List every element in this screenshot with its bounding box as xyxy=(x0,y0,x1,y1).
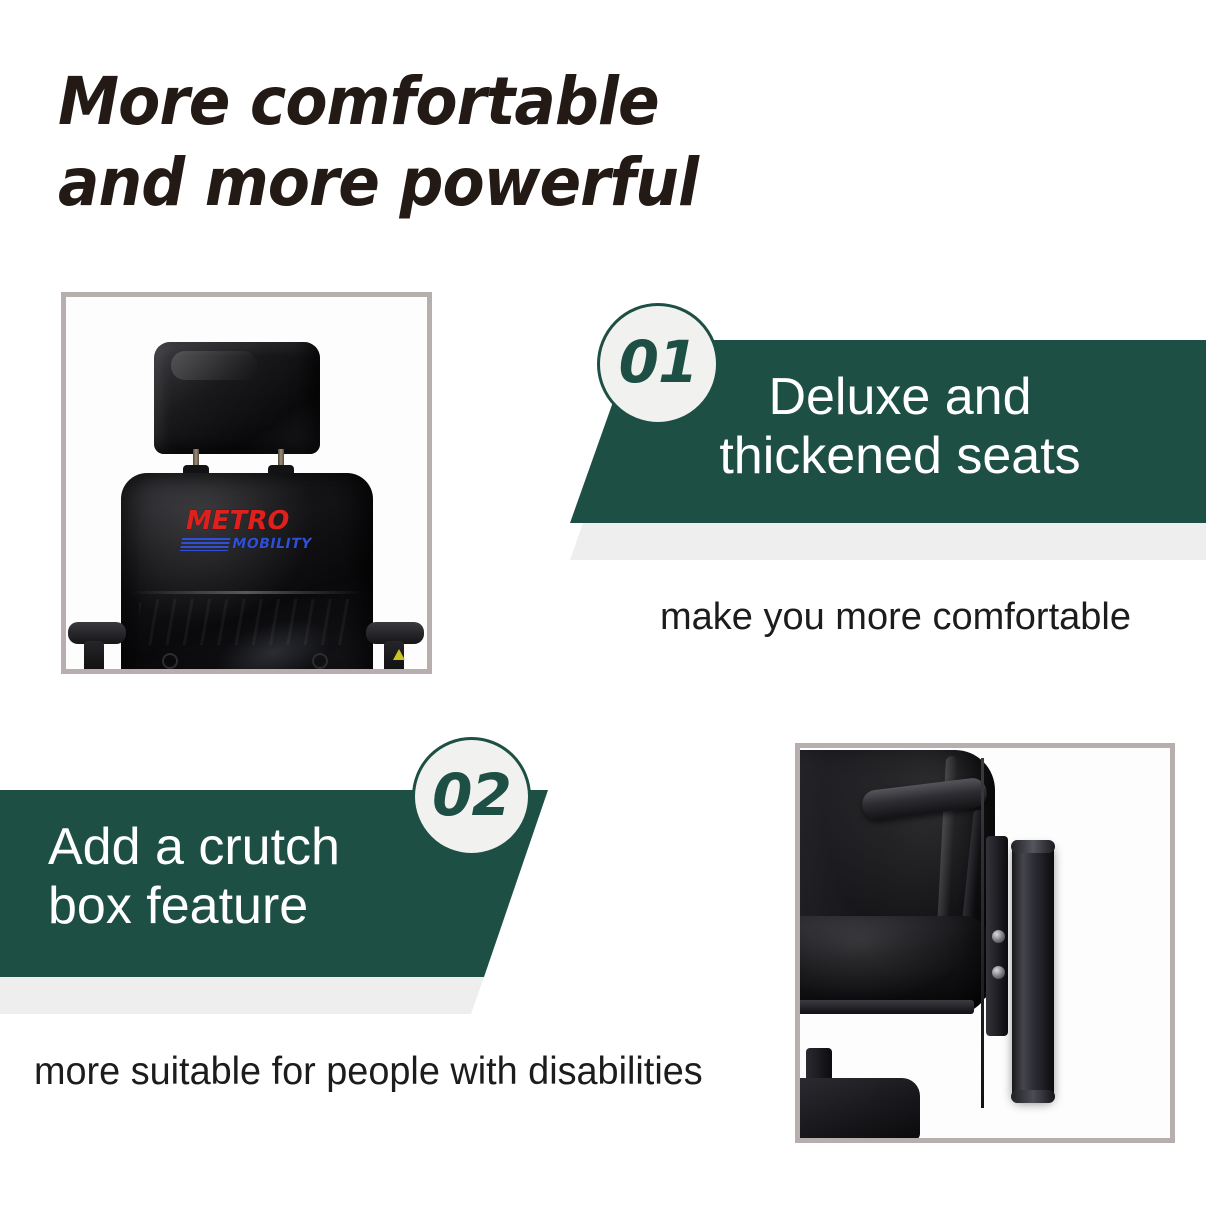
crutch-holder-tube xyxy=(1012,843,1054,1101)
page-headline: More comfortable and more powerful xyxy=(58,62,895,223)
armrest-mount-left xyxy=(84,641,104,674)
backrest-seam xyxy=(131,591,363,594)
feature-banner-shadow-02 xyxy=(0,977,548,1014)
headrest-cushion xyxy=(154,342,320,454)
bracket-bolt-upper xyxy=(992,930,1005,943)
logo-text-mobility: MOBILITY xyxy=(231,537,313,551)
photo-crutch-box-scene xyxy=(800,748,1170,1138)
logo-second-row: MOBILITY xyxy=(180,537,315,551)
feature-number-label-02: 02 xyxy=(432,766,511,824)
logo-speed-stripes-icon xyxy=(180,538,231,551)
backrest-knob-right xyxy=(312,653,328,669)
backrest-knob-left xyxy=(162,653,178,669)
crutch-tube-cap-bottom xyxy=(1011,1090,1055,1103)
feature-banner-shadow-01 xyxy=(570,523,1206,560)
feature-number-label-01: 01 xyxy=(619,333,698,391)
feature-caption-02: more suitable for people with disabiliti… xyxy=(34,1050,703,1094)
metro-mobility-logo: METRO MOBILITY xyxy=(180,508,320,551)
bracket-bolt-lower xyxy=(992,966,1005,979)
feature-photo-seat-back: METRO MOBILITY xyxy=(61,292,432,674)
logo-text-metro: METRO xyxy=(183,508,320,534)
feature-caption-01: make you more comfortable xyxy=(660,596,1131,639)
crutch-tube-cap-top xyxy=(1011,840,1055,853)
seat-backrest xyxy=(121,473,373,674)
infographic-canvas: More comfortable and more powerful METRO… xyxy=(0,0,1206,1206)
feature-number-badge-02: 02 xyxy=(412,737,531,856)
feature-title-02: Add a crutch box feature xyxy=(48,818,478,936)
vertical-support-rod xyxy=(981,758,984,1108)
chair-base xyxy=(795,1078,920,1140)
feature-number-badge-01: 01 xyxy=(597,303,719,425)
feature-photo-crutch-box xyxy=(795,743,1175,1143)
photo-seat-back-scene: METRO MOBILITY xyxy=(66,297,427,669)
seat-frame-rail xyxy=(795,1000,974,1014)
